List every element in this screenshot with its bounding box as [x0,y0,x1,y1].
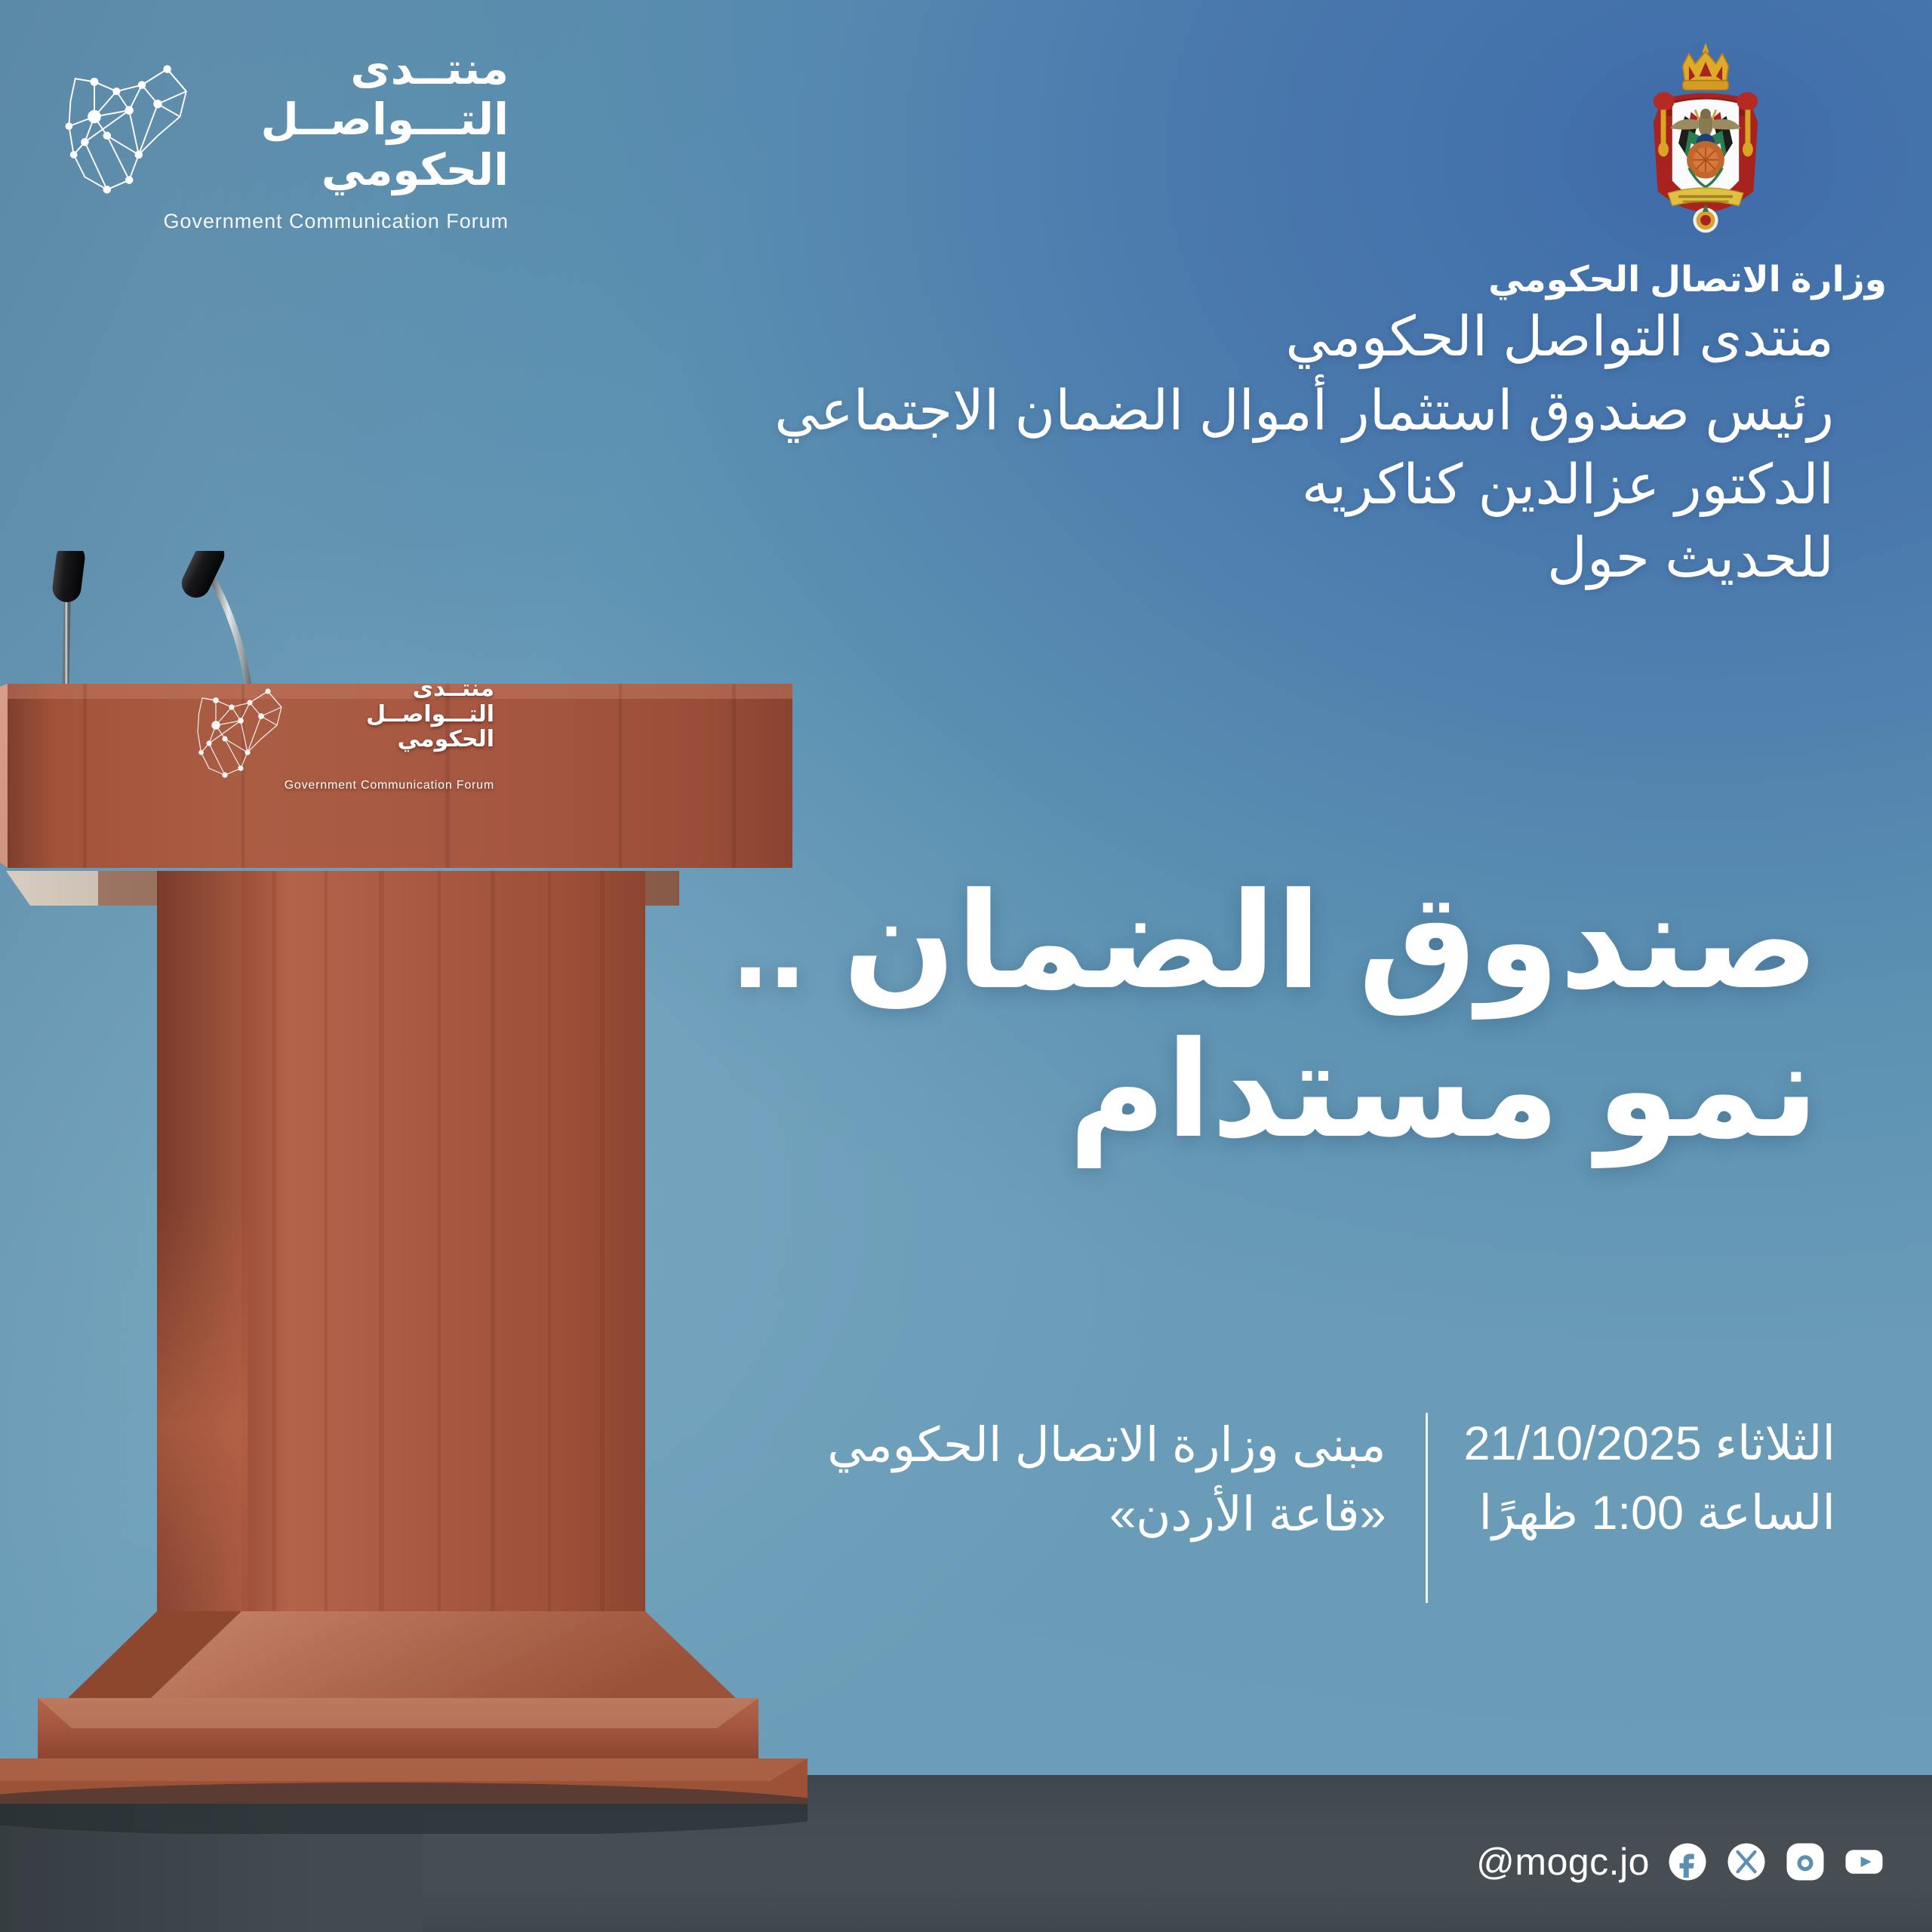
event-datetime: الثلاثاء 21/10/2025 الساعة 1:00 ظهرًا [1464,1410,1835,1549]
podium-desk-face [8,684,792,868]
event-date: الثلاثاء 21/10/2025 [1464,1410,1835,1479]
podium-desk-topedge [8,684,792,699]
podium-base-top [38,1698,758,1728]
poster-canvas: منتــدى التـــواصــل الحكومي Government … [0,0,1932,1932]
header-line-3: الدكتور عزالدين كناكريه [551,448,1834,522]
podium-plinth-top [0,1758,808,1781]
instagram-icon[interactable] [1784,1841,1826,1883]
ministry-title: وزارة الاتصال الحكومي [1524,258,1887,300]
header-line-4: للحديث حول [551,521,1834,595]
event-title: صندوق الضمان .. نمو مستدام [385,868,1819,1165]
forum-logo-line-2: التـــواصــل [260,99,509,142]
jordan-map-network-icon [47,36,205,210]
podium-svg [0,551,808,1834]
ministry-logo: وزارة الاتصال الحكومي [1524,35,1887,300]
social-handle: @mogc.jo [1476,1840,1650,1884]
event-venue: مبنى وزارة الاتصال الحكومي «قاعة الأردن» [827,1410,1386,1550]
forum-logo-line-1: منتــدى [260,48,509,91]
venue-line-2: «قاعة الأردن» [827,1481,1386,1550]
header-line-2: رئيس صندوق استثمار أموال الضمان الاجتماع… [551,374,1834,448]
social-footer: @mogc.jo [1463,1840,1885,1884]
info-divider [1426,1413,1428,1603]
podium-illustration: منتــدى التـــواصــل الحكومي Government … [0,551,808,1834]
header-line-1: منتدى التواصل الحكومي [551,300,1834,374]
event-header: منتدى التواصل الحكومي رئيس صندوق استثمار… [551,300,1834,595]
jordan-coat-of-arms-icon [1600,35,1811,254]
venue-line-1: مبنى وزارة الاتصال الحكومي [827,1411,1386,1481]
title-line-2: نمو مستدام [385,1017,1819,1165]
forum-logo-english: Government Communication Forum [163,210,509,233]
event-details: الثلاثاء 21/10/2025 الساعة 1:00 ظهرًا مب… [827,1410,1835,1603]
title-line-1: صندوق الضمان .. [385,868,1819,1017]
podium-floor-shadow [0,1783,808,1834]
event-time: الساعة 1:00 ظهرًا [1464,1479,1835,1549]
podium-base-flare [151,1611,736,1698]
youtube-icon[interactable] [1843,1841,1885,1883]
x-twitter-icon[interactable] [1725,1841,1767,1883]
facebook-icon[interactable] [1666,1841,1709,1883]
forum-logo: منتــدى التـــواصــل الحكومي Government … [47,36,515,232]
forum-logo-line-3: الحكومي [260,149,509,192]
podium-column-highlight [157,1200,248,1611]
